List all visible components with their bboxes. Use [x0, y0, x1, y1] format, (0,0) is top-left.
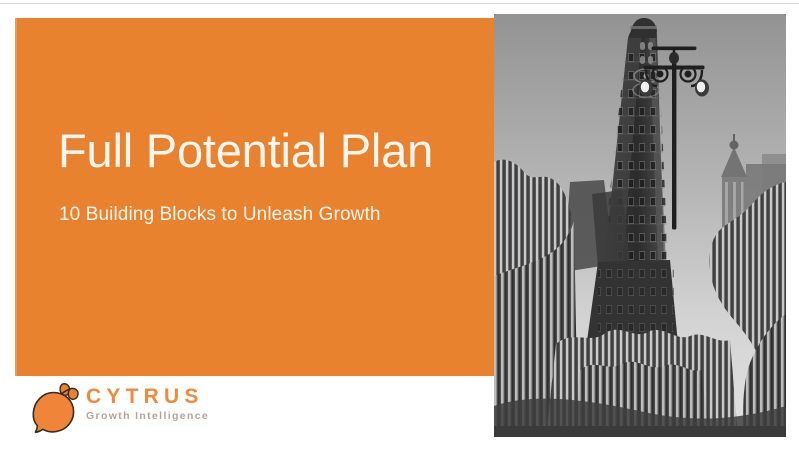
logo-wordmark-group: CYTRUS Growth Intelligence — [86, 386, 209, 422]
slide-canvas: Full Potential Plan 10 Building Blocks t… — [0, 0, 799, 450]
orange-fruit-icon — [22, 380, 84, 438]
page-subtitle: 10 Building Blocks to Unleash Growth — [59, 204, 381, 226]
panel-left-edge — [15, 18, 17, 376]
logo-tagline: Growth Intelligence — [86, 411, 209, 422]
brand-logo: CYTRUS Growth Intelligence — [22, 378, 222, 440]
logo-brand-name: CYTRUS — [86, 386, 209, 407]
title-color-panel: Full Potential Plan 10 Building Blocks t… — [15, 18, 494, 376]
slide-top-divider — [0, 3, 799, 4]
page-title: Full Potential Plan — [58, 125, 433, 178]
flatiron-building-photo — [494, 14, 786, 437]
